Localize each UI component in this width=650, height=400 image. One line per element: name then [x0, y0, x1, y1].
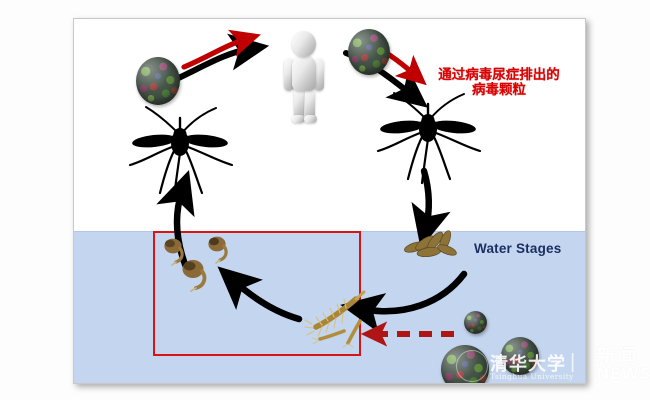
human-foot-right	[304, 115, 317, 123]
watermark-divider: |	[570, 351, 575, 374]
virus-particle-top-right	[348, 29, 390, 75]
virus-particle-water-small	[464, 311, 487, 334]
mosquito-left	[122, 99, 238, 199]
human-torso	[292, 55, 316, 91]
arrow-larvae-to-pupae	[234, 281, 299, 319]
diagram-figure: Water Stages 通过病毒尿症排出的 病毒颗粒	[73, 18, 586, 384]
mosquito-larvae	[302, 287, 382, 349]
human-figure	[280, 31, 328, 127]
screenshot-root: Water Stages 通过病毒尿症排出的 病毒颗粒	[0, 0, 650, 400]
news-watermark: 新闻 NEWS	[596, 340, 650, 394]
news-watermark-en: NEWS	[596, 364, 650, 383]
mosquito-eggs	[399, 225, 469, 265]
tsinghua-watermark: 清华大学 Tsinghua University |	[456, 349, 584, 383]
tsinghua-watermark-en: Tsinghua University	[490, 372, 574, 381]
tsinghua-seal-icon	[456, 350, 488, 382]
human-head	[292, 31, 316, 57]
mosquito-pupae	[160, 233, 240, 295]
virus-particle-top-left	[136, 57, 180, 105]
mosquito-right	[370, 85, 486, 185]
